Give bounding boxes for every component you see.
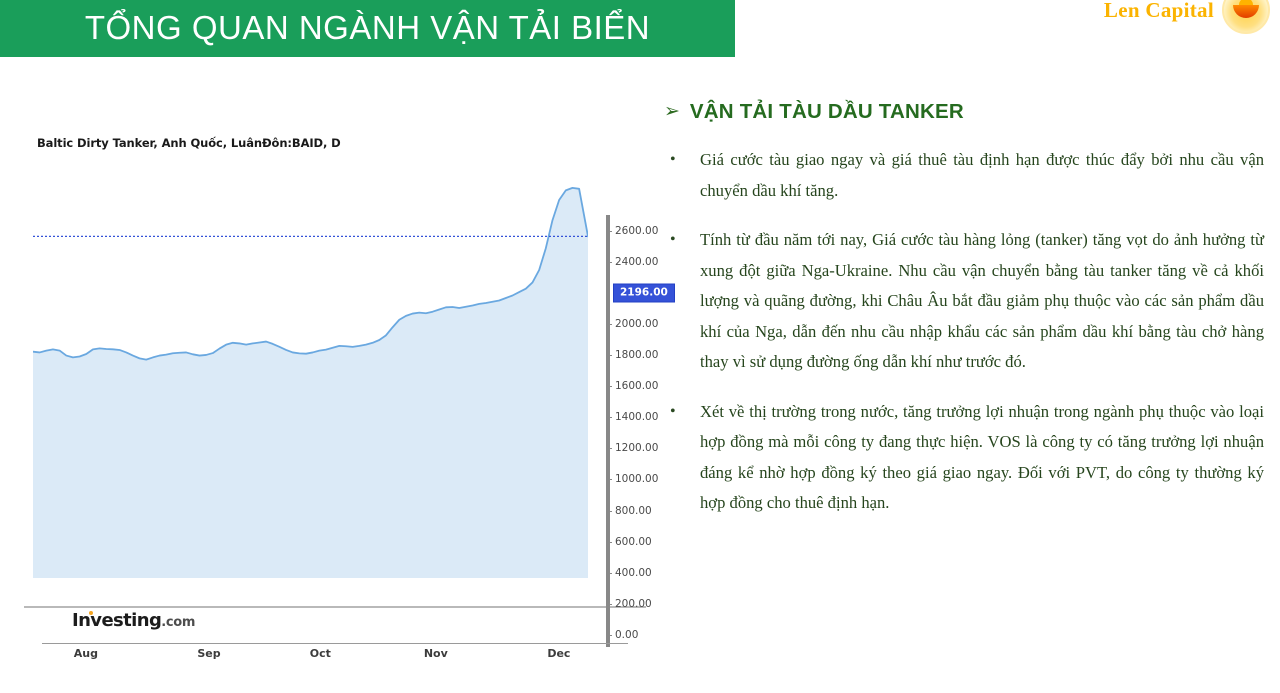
list-item: •Xét về thị trường trong nước, tăng trưở…	[664, 397, 1264, 519]
y-axis-line	[606, 215, 610, 647]
bullet-text: Xét về thị trường trong nước, tăng trưởn…	[700, 397, 1264, 519]
section-heading-text: VẬN TẢI TÀU DẦU TANKER	[690, 100, 964, 123]
y-axis-tick-label: 1200.00	[615, 442, 658, 454]
y-axis-tick-label: 1600.00	[615, 380, 658, 392]
y-axis-tick-label: 2600.00	[615, 225, 658, 237]
watermark-main-text: Investing	[72, 610, 161, 631]
price-area-fill	[33, 188, 588, 578]
price-area-chart	[33, 158, 588, 578]
bullet-dot-icon: •	[664, 145, 700, 206]
investing-com-watermark: Investing.com	[72, 610, 195, 631]
section-heading: ➢ VẬN TẢI TÀU DẦU TANKER	[664, 100, 1264, 123]
chart-plot-area	[33, 158, 588, 578]
content-panel: ➢ VẬN TẢI TÀU DẦU TANKER •Giá cước tàu g…	[664, 100, 1264, 538]
chart-panel: Baltic Dirty Tanker, Anh Quốc, LuânĐôn:B…	[24, 96, 646, 608]
page-header-bar: TỔNG QUAN NGÀNH VẬN TẢI BIỂN	[0, 0, 735, 57]
y-axis-tick-label: 600.00	[615, 536, 652, 548]
watermark-suffix-text: .com	[161, 615, 195, 630]
x-axis-tick-label: Dec	[547, 647, 570, 660]
y-axis-tick-label: 800.00	[615, 505, 652, 517]
y-axis-tick-label: 1000.00	[615, 473, 658, 485]
x-axis-tick-label: Oct	[310, 647, 331, 660]
arrow-bullet-icon: ➢	[664, 100, 680, 123]
bullet-dot-icon: •	[664, 397, 700, 519]
chart-title: Baltic Dirty Tanker, Anh Quốc, LuânĐôn:B…	[37, 136, 341, 150]
x-axis-line	[42, 643, 628, 644]
y-axis-tick-label: 400.00	[615, 567, 652, 579]
x-axis-tick-label: Nov	[424, 647, 448, 660]
bullet-list: •Giá cước tàu giao ngay và giá thuê tàu …	[664, 145, 1264, 519]
page-title: TỔNG QUAN NGÀNH VẬN TẢI BIỂN	[85, 9, 650, 49]
x-axis-labels: AugSepOctNovDec	[42, 647, 628, 667]
y-axis-tick-label: 1400.00	[615, 411, 658, 423]
y-axis-tick-label: 0.00	[615, 629, 638, 641]
y-axis-tick-label: 200.00	[615, 598, 652, 610]
list-item: •Tính từ đầu năm tới nay, Giá cước tàu h…	[664, 225, 1264, 378]
y-axis-tick-label: 2400.00	[615, 256, 658, 268]
chart-plot-wrapper: 2600.002400.002000.001800.001600.001400.…	[33, 158, 642, 578]
bullet-text: Tính từ đầu năm tới nay, Giá cước tàu hà…	[700, 225, 1264, 378]
y-axis-tick-label: 2000.00	[615, 318, 658, 330]
x-axis-tick-label: Sep	[197, 647, 220, 660]
x-axis-tick-label: Aug	[74, 647, 98, 660]
bullet-text: Giá cước tàu giao ngay và giá thuê tàu đ…	[700, 145, 1264, 206]
list-item: •Giá cước tàu giao ngay và giá thuê tàu …	[664, 145, 1264, 206]
y-axis-tick-label: 1800.00	[615, 349, 658, 361]
lotus-flame-emblem-icon	[1222, 0, 1270, 34]
bullet-dot-icon: •	[664, 225, 700, 378]
brand-logo: Len Capital	[1104, 0, 1270, 34]
brand-name: Len Capital	[1104, 0, 1214, 23]
